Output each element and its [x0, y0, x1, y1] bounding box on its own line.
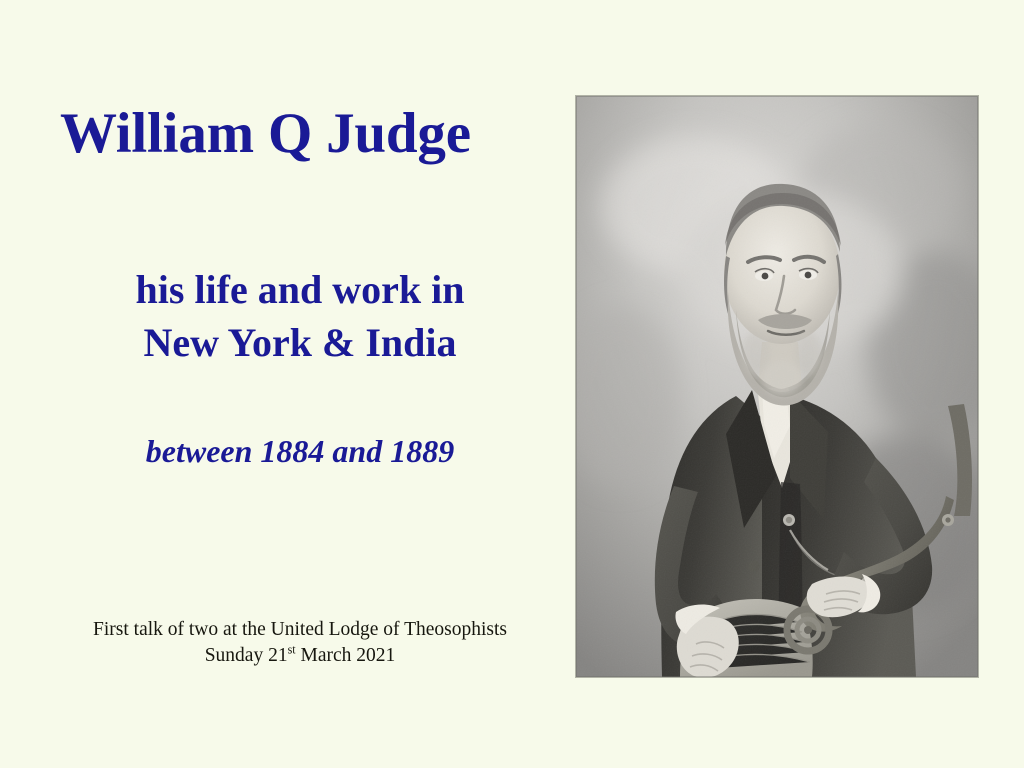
slide-subtitle: his life and work in New York & India [38, 264, 562, 370]
slide-footer: First talk of two at the United Lodge of… [38, 617, 562, 669]
footer-line-1: First talk of two at the United Lodge of… [38, 617, 562, 643]
date-range-text: between 1884 and 1889 [38, 432, 562, 470]
subtitle-line-1: his life and work in [38, 264, 562, 317]
subtitle-line-2: New York & India [38, 317, 562, 370]
page-title: William Q Judge [60, 104, 550, 164]
title-text-column: William Q Judge his life and work in New… [38, 0, 562, 768]
footer-date-suffix: March 2021 [296, 645, 396, 666]
presentation-slide: William Q Judge his life and work in New… [0, 0, 1024, 768]
footer-date-prefix: Sunday 21 [205, 645, 288, 666]
portrait-photograph [576, 96, 978, 677]
footer-date-ordinal: st [288, 642, 296, 656]
footer-line-2: Sunday 21st March 2021 [38, 643, 562, 669]
portrait-illustration [576, 96, 978, 677]
